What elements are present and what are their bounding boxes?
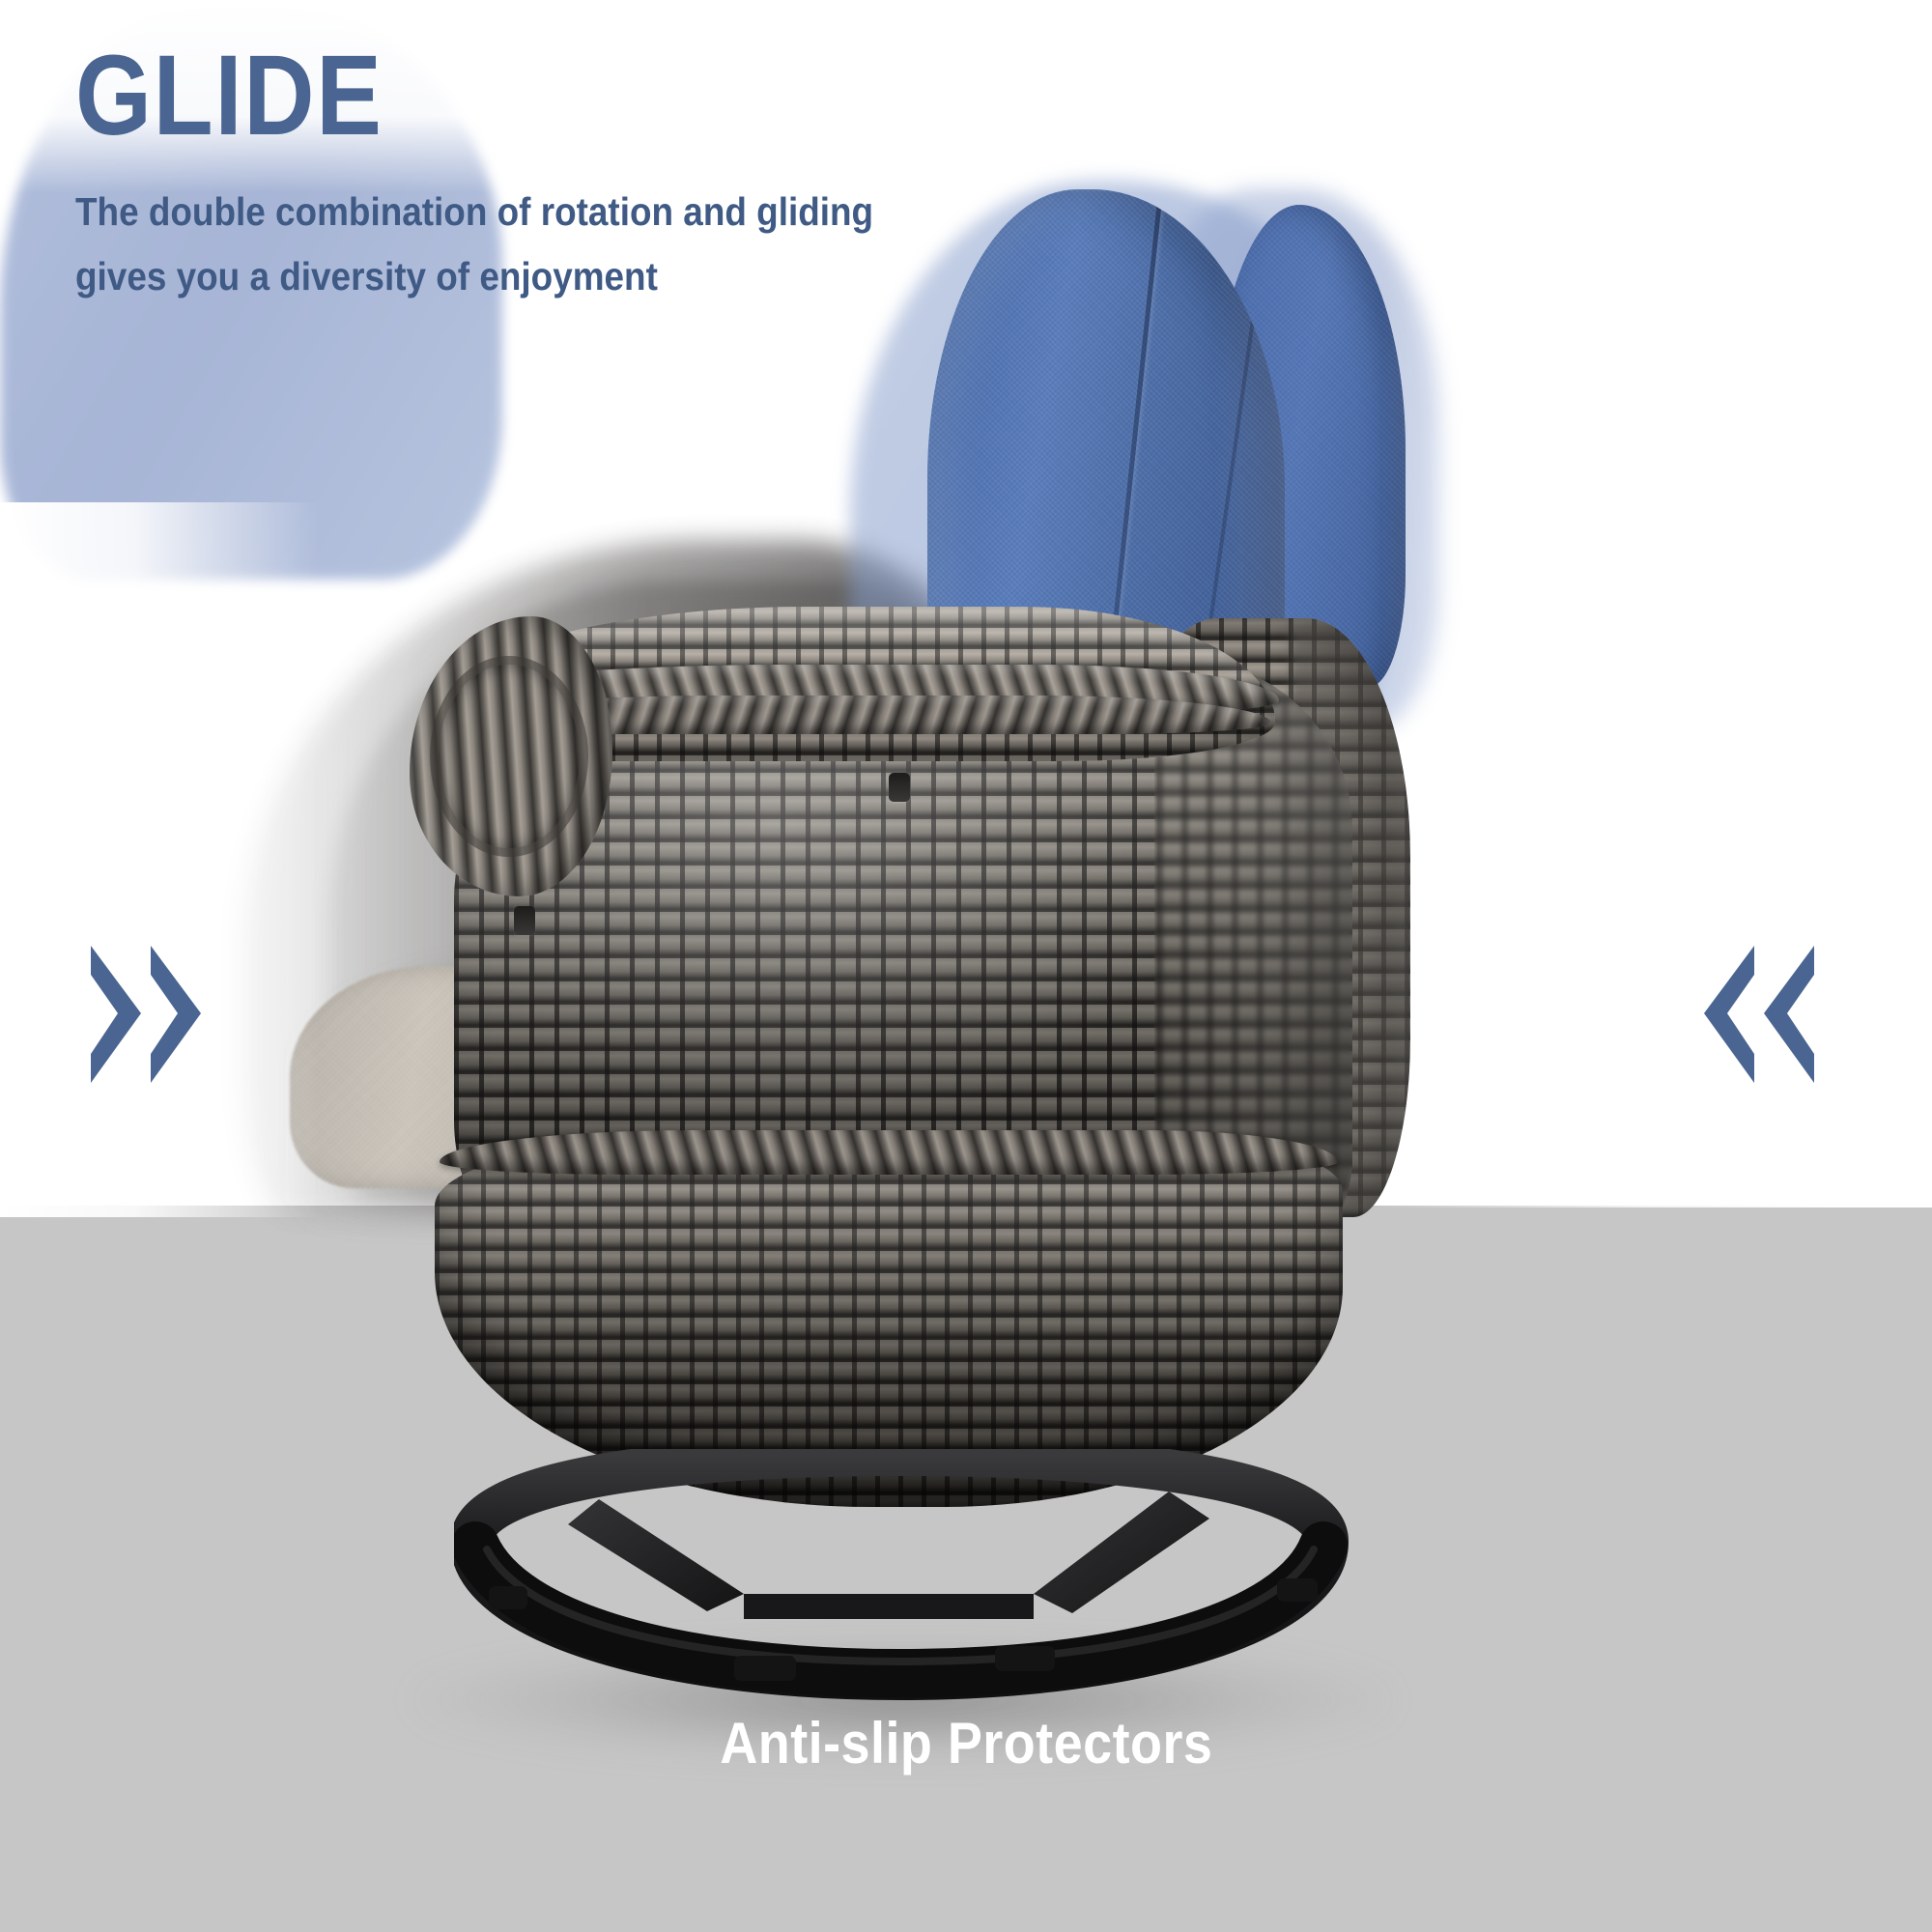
marketing-image-canvas: GLIDE The double combination of rotation…: [0, 0, 1932, 1932]
swivel-base-graphic: [454, 1449, 1352, 1739]
double-chevron-right-icon: [85, 942, 145, 1087]
anti-slip-foot-pad: [489, 1586, 527, 1609]
subtitle-line-1: The double combination of rotation and g…: [75, 180, 1119, 245]
subtitle-block: The double combination of rotation and g…: [75, 180, 1119, 310]
seat-base-braided-rim: [440, 1130, 1338, 1175]
swivel-base-crossbar: [744, 1594, 1034, 1619]
subtitle-line-2: gives you a diversity of enjoyment: [75, 244, 1119, 310]
double-chevron-left-icon: [1760, 942, 1820, 1087]
anti-slip-foot-pad: [1277, 1578, 1318, 1602]
frame-fitting-screw: [514, 906, 535, 935]
swivel-base-spoke-left: [568, 1499, 744, 1611]
double-chevron-right-icon: [145, 942, 205, 1087]
page-title: GLIDE: [75, 41, 1072, 153]
photo-fade-right: [1381, 174, 1932, 1207]
motion-indicator-left-arrows: [1700, 942, 1820, 1087]
feature-caption-text: Anti-slip Protectors: [720, 1710, 1212, 1776]
anti-slip-foot-pad: [734, 1656, 796, 1681]
armrest-curl-ring: [430, 656, 588, 858]
photo-fade-left: [0, 502, 319, 1217]
frame-fitting-screw: [889, 773, 910, 802]
swivel-base-assembly: [454, 1449, 1352, 1739]
headline-block: GLIDE The double combination of rotation…: [75, 41, 1235, 310]
anti-slip-foot-pad: [995, 1646, 1055, 1671]
double-chevron-left-icon: [1700, 942, 1760, 1087]
motion-indicator-right-arrows: [85, 942, 205, 1087]
swivel-base-spoke-right: [1034, 1492, 1209, 1613]
feature-caption: Anti-slip Protectors: [0, 1710, 1932, 1776]
